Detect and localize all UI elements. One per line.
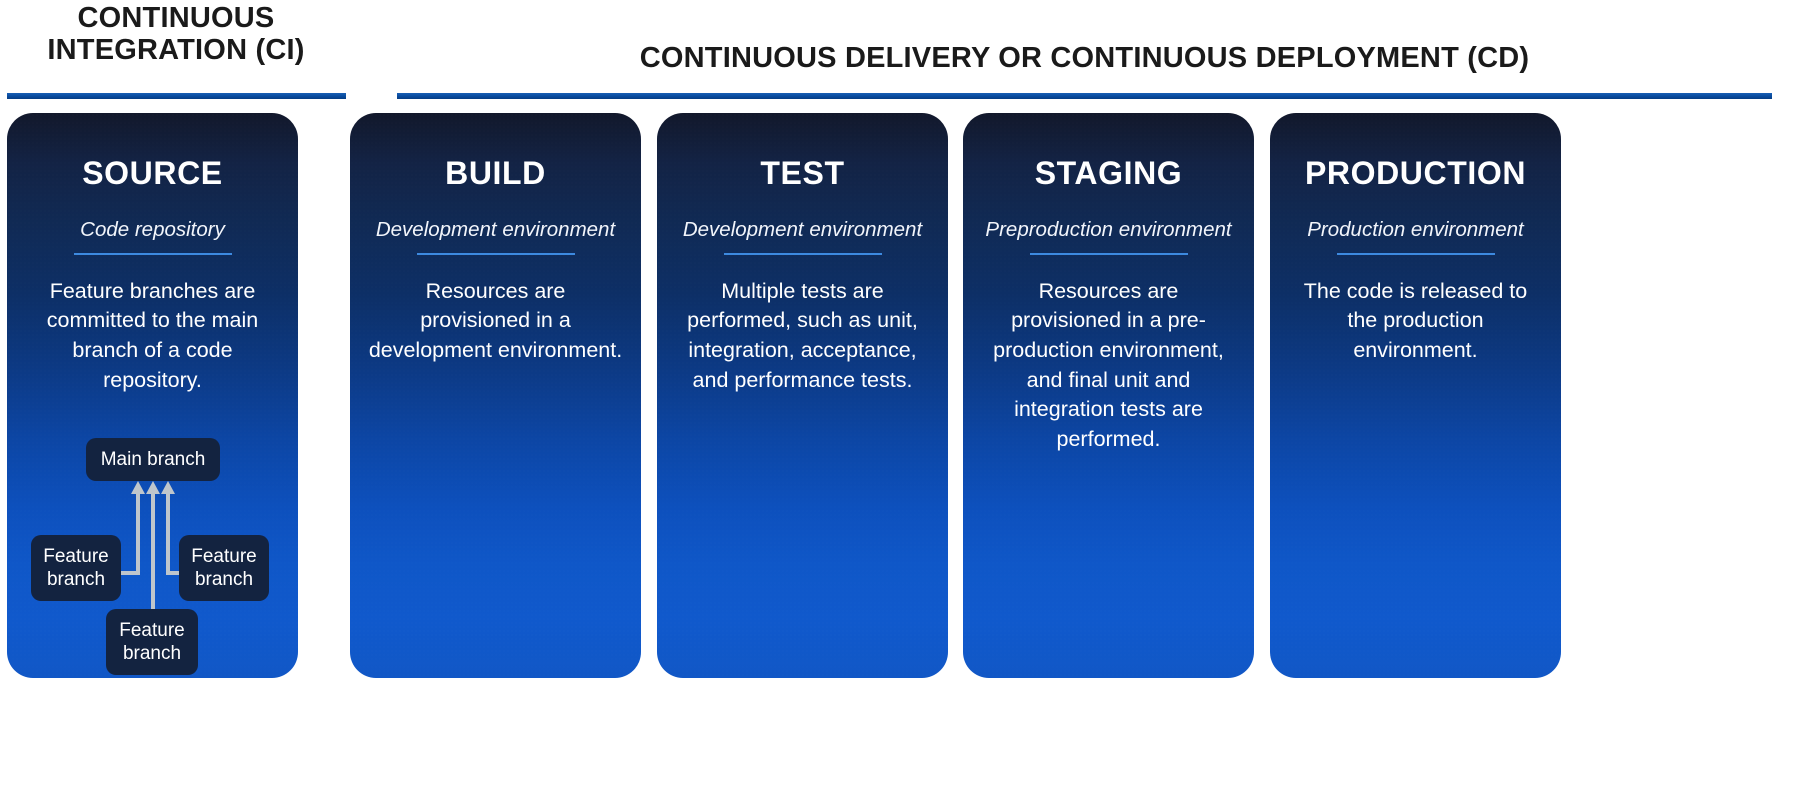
card-divider: [1030, 253, 1188, 255]
arrow-path-left: [121, 490, 138, 573]
ci-section-title: CONTINUOUS INTEGRATION (CI): [0, 2, 352, 67]
card-body: Resources are provisioned in a pre-produ…: [981, 277, 1236, 455]
card-divider: [417, 253, 575, 255]
card-subtitle: Preproduction environment: [981, 219, 1236, 242]
arrow-heads: [131, 481, 175, 494]
card-divider: [1337, 253, 1495, 255]
card-title: TEST: [675, 157, 930, 189]
card-subtitle: Production environment: [1288, 219, 1543, 242]
arrow-head-left: [131, 481, 145, 494]
card-body: Multiple tests are performed, such as un…: [675, 277, 930, 396]
stage-card-build[interactable]: BUILD Development environment Resources …: [350, 113, 641, 678]
arrow-head-right: [161, 481, 175, 494]
card-subtitle: Code repository: [25, 219, 280, 242]
card-body: The code is released to the production e…: [1288, 277, 1543, 366]
card-title: SOURCE: [25, 157, 280, 189]
arrow-path-right: [168, 490, 179, 573]
card-title: PRODUCTION: [1288, 157, 1543, 189]
card-body: Resources are provisioned in a developme…: [368, 277, 623, 366]
arrow-head-bottom: [146, 481, 160, 494]
card-subtitle: Development environment: [675, 219, 930, 242]
card-divider: [724, 253, 882, 255]
card-subtitle: Development environment: [368, 219, 623, 242]
ci-section-rule: [7, 93, 346, 99]
card-body: Feature branches are committed to the ma…: [25, 277, 280, 396]
stage-card-staging[interactable]: STAGING Preproduction environment Resour…: [963, 113, 1254, 678]
cd-section-rule: [397, 93, 1772, 99]
branch-diagram: Main branch Feature branch Feature branc…: [7, 428, 298, 678]
stage-card-source[interactable]: SOURCE Code repository Feature branches …: [7, 113, 298, 678]
diagram-canvas: CONTINUOUS INTEGRATION (CI) CONTINUOUS D…: [0, 0, 1797, 795]
branch-box-feature-left[interactable]: Feature branch: [31, 535, 121, 601]
branch-box-feature-bottom[interactable]: Feature branch: [106, 609, 198, 675]
card-title: STAGING: [981, 157, 1236, 189]
stage-card-production[interactable]: PRODUCTION Production environment The co…: [1270, 113, 1561, 678]
branch-box-main[interactable]: Main branch: [86, 438, 220, 481]
card-divider: [74, 253, 232, 255]
branch-box-feature-right[interactable]: Feature branch: [179, 535, 269, 601]
stage-card-test[interactable]: TEST Development environment Multiple te…: [657, 113, 948, 678]
cd-section-title: CONTINUOUS DELIVERY OR CONTINUOUS DEPLOY…: [397, 42, 1772, 74]
card-title: BUILD: [368, 157, 623, 189]
